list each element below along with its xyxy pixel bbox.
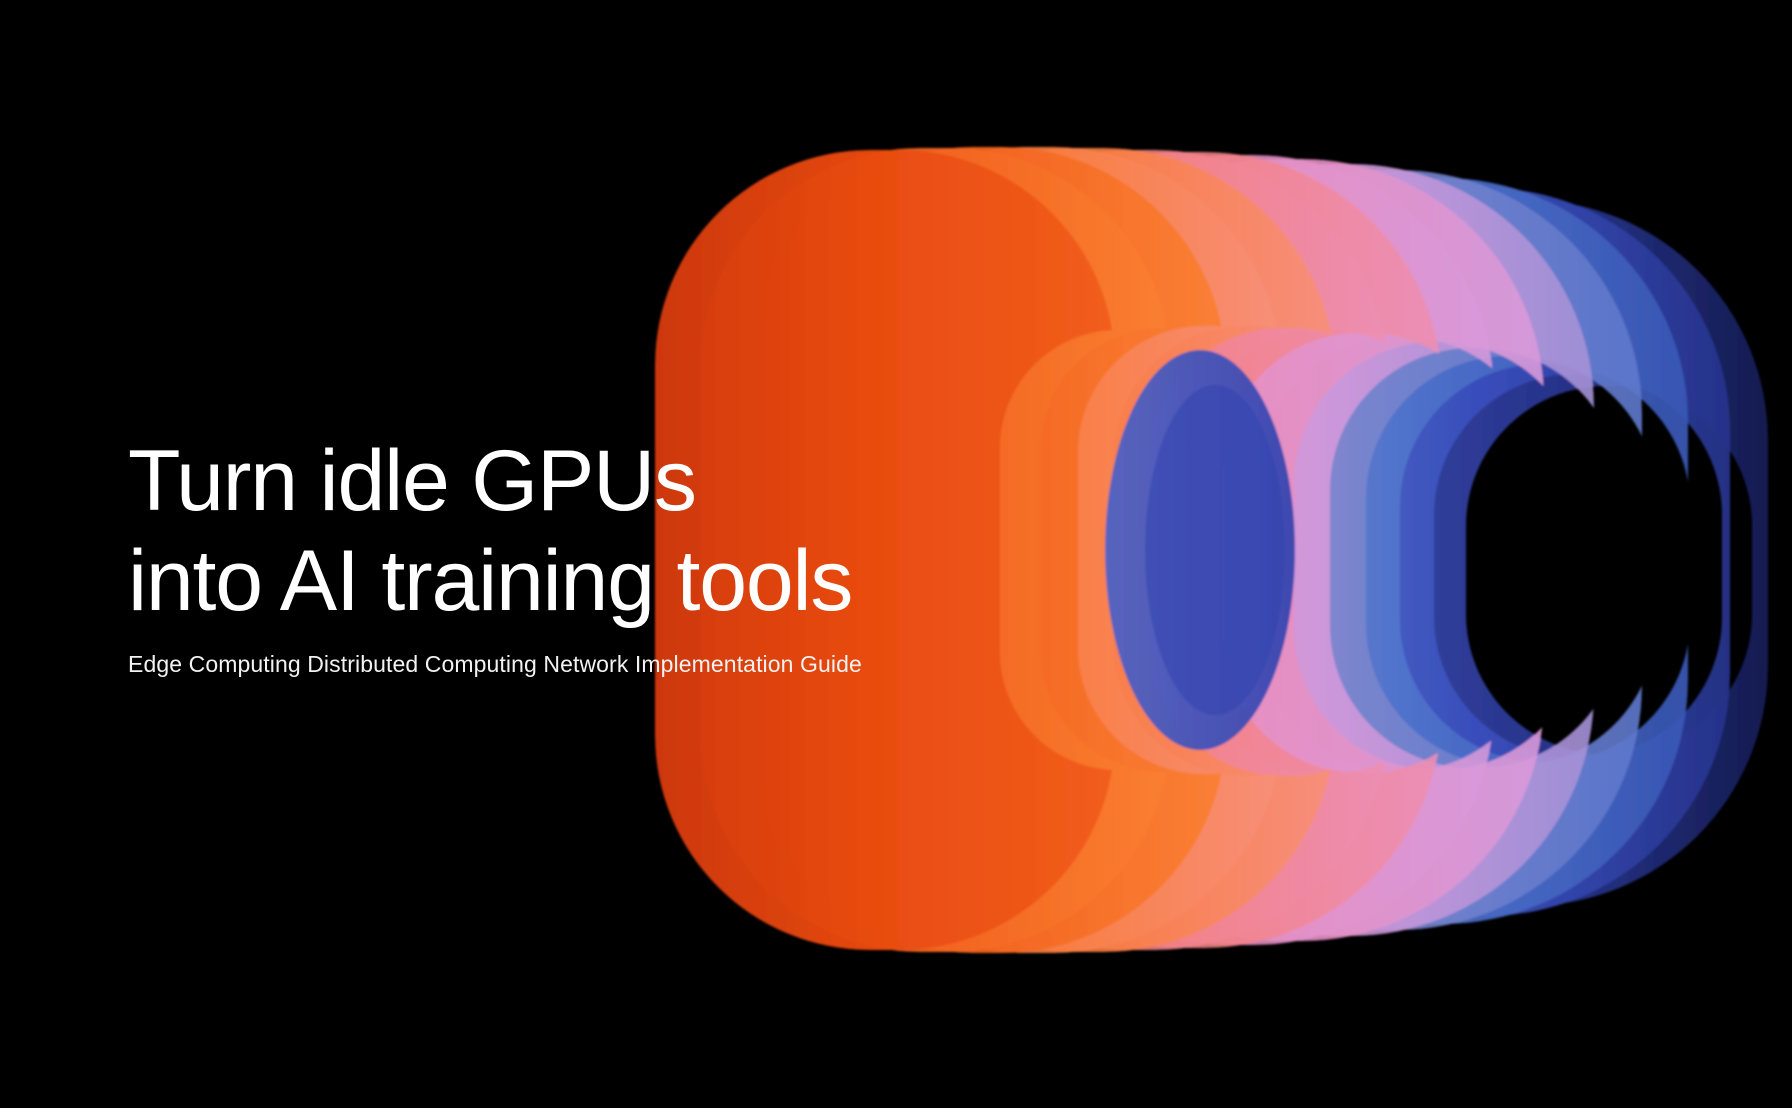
page-title: Turn idle GPUs into AI training tools: [128, 432, 1128, 632]
centre-eye: [1105, 350, 1295, 750]
ring-10: [1084, 164, 1594, 936]
ring-13: [1220, 188, 1730, 916]
page-subtitle: Edge Computing Distributed Computing Net…: [128, 650, 1128, 680]
ring-12: [1176, 178, 1688, 924]
ring-14: [1262, 200, 1768, 906]
ring-11: [1130, 170, 1642, 930]
slide-root: Turn idle GPUs into AI training tools Ed…: [0, 0, 1792, 1108]
text-block: Turn idle GPUs into AI training tools Ed…: [128, 432, 1128, 679]
